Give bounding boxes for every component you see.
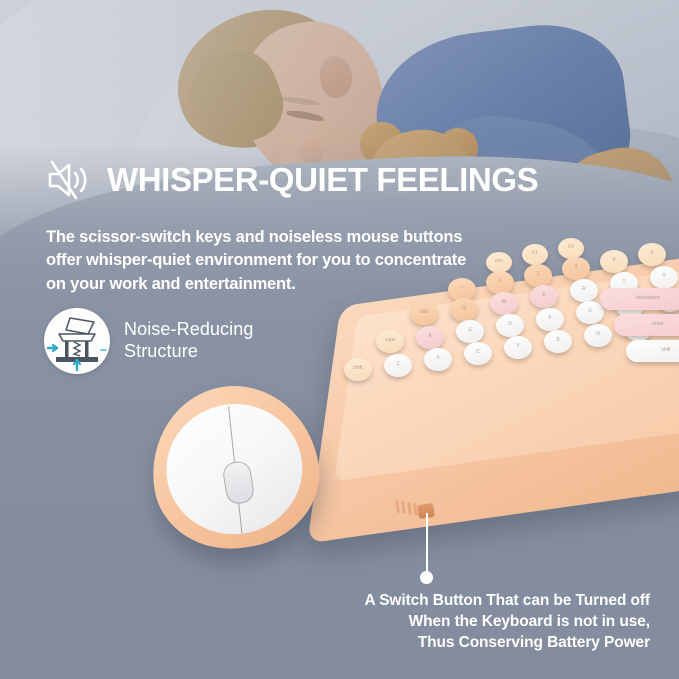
keycap-legend: enter [614,321,679,327]
keycap-backspace[interactable]: backspace [600,288,679,310]
keycap-W[interactable]: W [490,292,518,315]
keycap-legend: A [416,333,444,339]
keycap-R[interactable]: R [570,279,598,302]
keycap-legend: F2 [558,244,584,250]
keycap-legend: 3 [562,264,590,270]
keycap-legend: X [424,355,452,361]
keycap-legend: R [570,286,598,292]
callout-leader-line [426,513,428,575]
keycap-legend: 1 [486,278,514,284]
keycap-S[interactable]: S [456,320,484,343]
keycap-legend: caps [376,337,404,343]
keycap-F[interactable]: F [536,308,564,331]
keycap-Y[interactable]: Y [650,266,678,289]
badge-label-line-2: Structure [124,341,253,363]
keycap-legend: Q [450,305,478,311]
keycap-legend: F [536,315,564,321]
keycap-legend: tab [410,309,438,315]
mouse [140,374,329,560]
callout-line-1: A Switch Button That can be Turned off [250,591,650,612]
keycap-legend: Y [650,273,678,279]
keycap-legend: G [576,308,604,314]
keycap-caps[interactable]: caps [376,330,404,353]
keycap-legend: C [464,349,492,355]
keycap-Q[interactable]: Q [450,298,478,321]
keycap-legend: Z [384,361,412,367]
callout-line-2: When the Keyboard is not in use, [250,612,650,633]
keycap-legend: D [496,321,524,327]
keycap-legend: E [530,292,558,298]
keycap-legend: ~ [448,285,476,291]
mute-speaker-icon [46,160,94,200]
keycap-shift[interactable]: shift [344,358,372,381]
badge-label: Noise-Reducing Structure [124,319,253,362]
keycap-Z[interactable]: Z [384,354,412,377]
keycap-legend: esc [486,258,512,264]
keycap-legend: N [584,331,612,337]
badge-circle [44,308,110,374]
keycap-legend: S [456,327,484,333]
keycap-1[interactable]: 1 [486,271,514,294]
keycap-C[interactable]: C [464,342,492,365]
keycap-esc[interactable]: esc [486,252,512,273]
keycap-3[interactable]: 3 [562,257,590,280]
keycap-legend: F1 [522,250,548,256]
feature-badge: Noise-Reducing Structure [44,308,253,374]
keycap-legend: B [544,337,572,343]
keycap-legend: 4 [600,257,628,263]
keycap-2[interactable]: 2 [524,264,552,287]
keycap-F1[interactable]: F1 [522,244,548,265]
key-switch-cross-section-icon [44,308,110,374]
keycap-legend: V [504,343,532,349]
keycap-enter[interactable]: enter [614,314,679,336]
keycap-legend: 5 [638,250,666,256]
keycap-tab[interactable]: tab [410,302,438,325]
keycap-legend: backspace [600,295,679,301]
keycap-N[interactable]: N [584,324,612,347]
callout-text: A Switch Button That can be Turned off W… [250,591,650,654]
keycap-G[interactable]: G [576,301,604,324]
keycap-D[interactable]: D [496,314,524,337]
keycap-legend: shift [626,347,679,353]
keycap-legend: shift [344,365,372,371]
keycap-V[interactable]: V [504,336,532,359]
keycap-B[interactable]: B [544,330,572,353]
keycap-E[interactable]: E [530,285,558,308]
keycap-shift[interactable]: shift [626,340,679,362]
keyboard: escF1F2~12345tabQWERTYcapsASDFGHJshiftZX… [300,238,679,538]
badge-label-line-1: Noise-Reducing [124,319,253,341]
product-feature-banner: WHISPER-QUIET FEELINGS The scissor-switc… [0,0,679,679]
keycap-X[interactable]: X [424,348,452,371]
keycap-F2[interactable]: F2 [558,238,584,259]
page-title: WHISPER-QUIET FEELINGS [107,161,538,199]
callout-line-3: Thus Conserving Battery Power [250,633,650,654]
keycap-A[interactable]: A [416,326,444,349]
keycap-4[interactable]: 4 [600,250,628,273]
keycap-legend: W [490,299,518,305]
keycap-legend: T [610,279,638,285]
callout-leader-dot [420,571,433,584]
headline-row: WHISPER-QUIET FEELINGS [46,160,538,200]
keycap-legend: 2 [524,271,552,277]
keycap-5[interactable]: 5 [638,243,666,266]
